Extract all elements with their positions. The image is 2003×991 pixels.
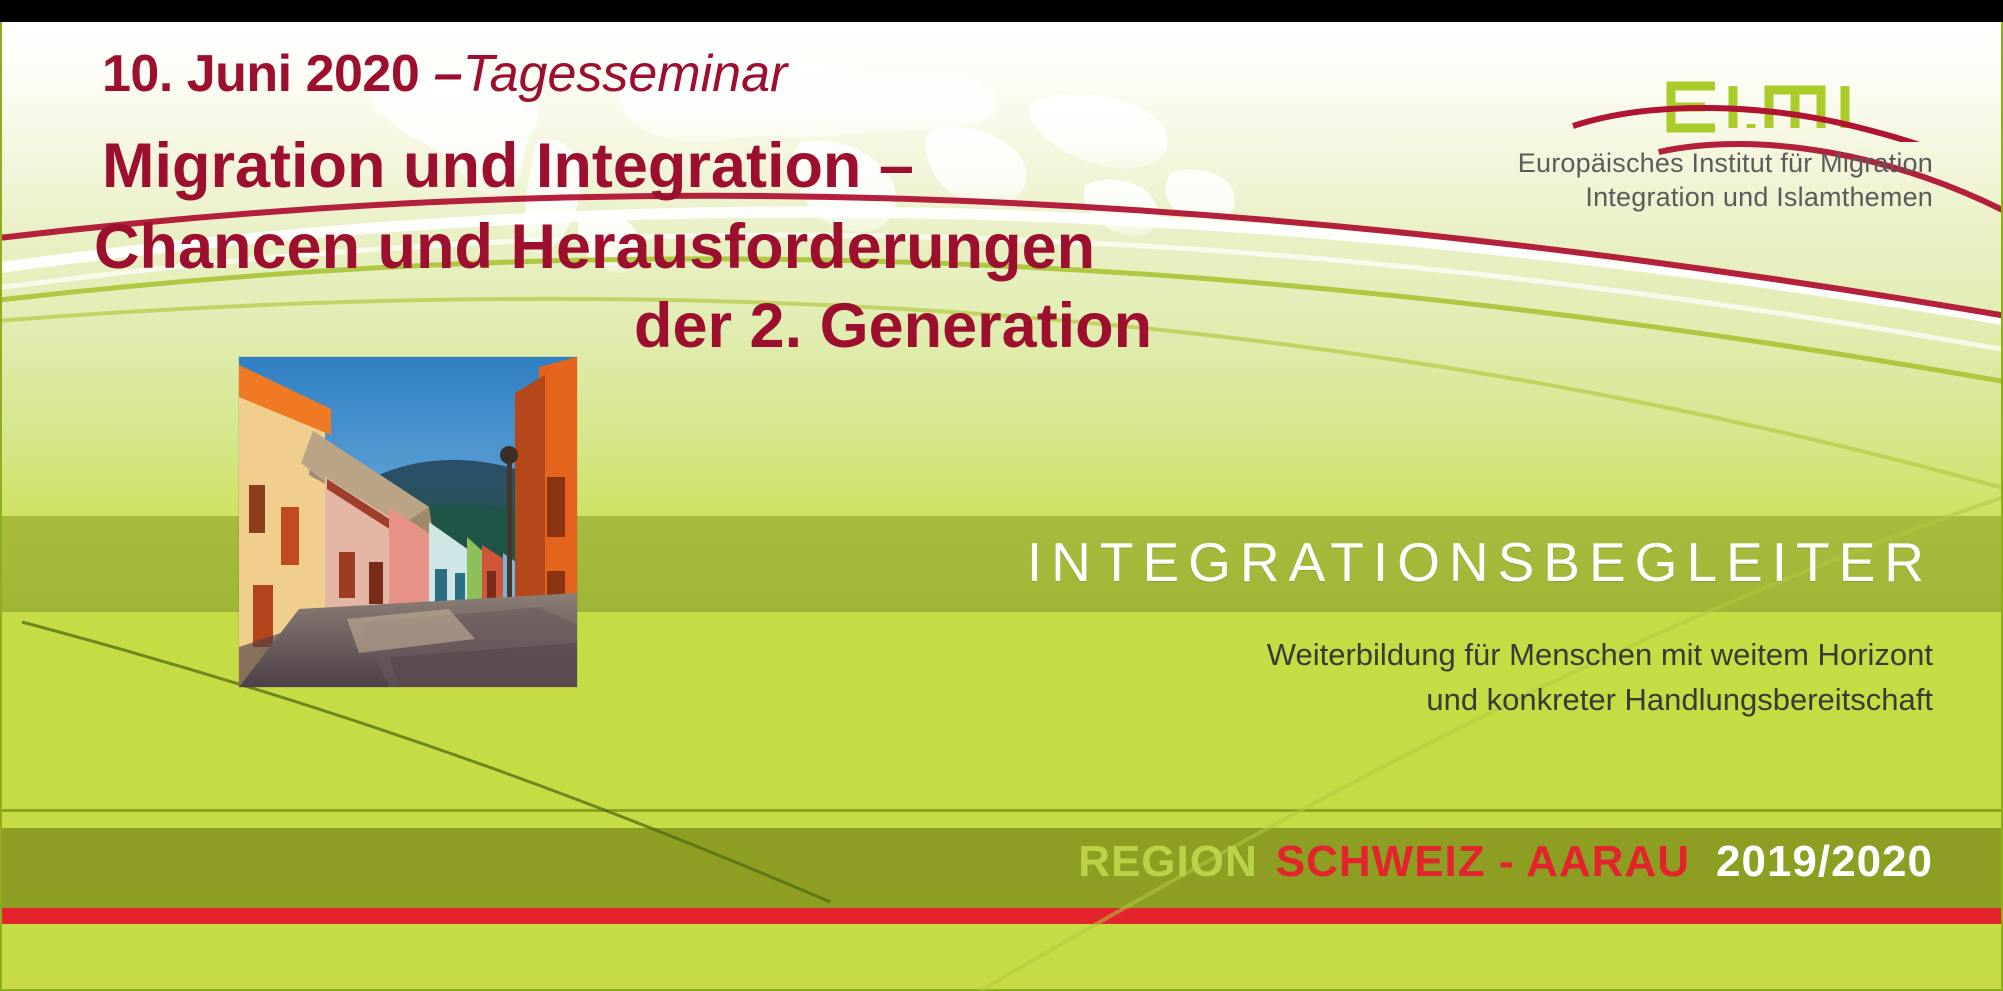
top-black-bar	[0, 0, 2003, 22]
brand-tagline-line-2: und konkreter Handlungsbereitschaft	[733, 677, 1933, 722]
page-title-line-2: Chancen und Herausforderungen	[94, 208, 1095, 286]
event-kicker: 10. Juni 2020 –Tagesseminar	[102, 44, 787, 104]
slide-canvas: 10. Juni 2020 –Tagesseminar Migration un…	[0, 22, 2003, 991]
eimi-subtitle-line-1: Europäisches Institut für Migration	[1433, 146, 1933, 180]
brand-band-title: INTEGRATIONSBEGLEITER	[733, 530, 1933, 594]
page-title-line-1: Migration und Integration –	[102, 127, 914, 205]
brand-tagline: Weiterbildung für Menschen mit weitem Ho…	[733, 632, 1933, 722]
region-place: SCHWEIZ - AARAU	[1276, 837, 1690, 886]
street-photo	[239, 357, 577, 687]
street-photo-illustration	[239, 357, 577, 687]
eimi-logo-icon	[1433, 70, 1933, 142]
event-date: 10. Juni 2020	[102, 45, 419, 103]
eimi-logo: Europäisches Institut für Migration Inte…	[1433, 70, 1933, 214]
slide-content: 10. Juni 2020 –Tagesseminar Migration un…	[2, 22, 2001, 991]
eimi-subtitle-line-2: Integration und Islamthemen	[1433, 180, 1933, 214]
eimi-logo-subtitle: Europäisches Institut für Migration Inte…	[1433, 146, 1933, 214]
page-title-line-3: der 2. Generation	[634, 287, 1152, 365]
event-type: Tagesseminar	[463, 45, 788, 103]
seminar-title-slide: 10. Juni 2020 –Tagesseminar Migration un…	[0, 0, 2003, 991]
region-label: REGION	[1078, 837, 1258, 886]
region-year: 2019/2020	[1716, 837, 1933, 886]
kicker-separator: –	[419, 45, 462, 103]
brand-tagline-line-1: Weiterbildung für Menschen mit weitem Ho…	[733, 632, 1933, 677]
region-year-line: REGIONSCHWEIZ - AARAU2019/2020	[533, 837, 1933, 887]
